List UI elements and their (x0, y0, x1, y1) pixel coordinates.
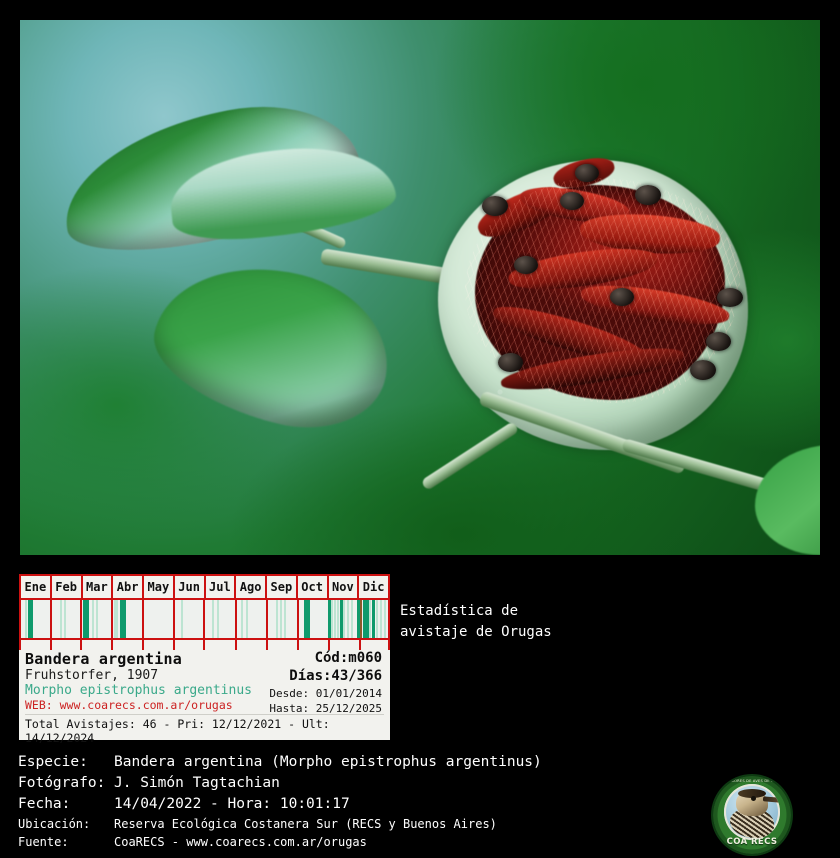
month-separator (19, 600, 21, 638)
sighting-tick-day-261 (284, 600, 286, 638)
statistics-caption: Estadística de avistaje de Orugas (400, 601, 700, 643)
species-days-count: Días:43/366 (289, 668, 382, 684)
caterpillar-head (717, 288, 743, 307)
month-separator (388, 600, 390, 638)
month-header-ene: Ene (19, 576, 52, 598)
logo-inner-disc (724, 784, 780, 840)
caterpillar-head (635, 185, 661, 205)
month-header-feb: Feb (52, 576, 83, 598)
range-end-date: Hasta: 25/12/2025 (269, 702, 382, 715)
metadata-row: Fecha:14/04/2022 - Hora: 10:01:17 (18, 794, 718, 815)
caterpillar-head (514, 256, 538, 274)
metadata-row: Especie:Bandera argentina (Morpho epistr… (18, 752, 718, 773)
month-header-sep: Sep (267, 576, 298, 598)
month-header-nov: Nov (329, 576, 360, 598)
month-header-jul: Jul (206, 576, 237, 598)
sighting-tick-day-356 (380, 600, 382, 638)
sighting-tick-day-195 (217, 600, 219, 638)
sighting-tick-day-284 (307, 600, 310, 638)
month-header-may: May (144, 576, 175, 598)
logo-arc-text: OBSERVADORES DE AVES DE LA RESERVA ECOLO… (713, 779, 791, 783)
month-header-ago: Ago (236, 576, 267, 598)
month-header-oct: Oct (298, 576, 329, 598)
sighting-tick-day-324 (347, 600, 349, 638)
sighting-tick-day-336 (360, 600, 362, 638)
sighting-tick-day-360 (384, 600, 386, 638)
species-code: Cód:m060 (315, 650, 382, 666)
sighting-tick-day-66 (86, 600, 89, 638)
month-separator (142, 600, 144, 638)
sighting-tick-day-257 (280, 600, 282, 638)
month-header-mar: Mar (83, 576, 114, 598)
sighting-tick-day-190 (212, 600, 214, 638)
sighting-tick-day-76 (96, 600, 98, 638)
sighting-tick-day-320 (343, 600, 345, 638)
sighting-tick-day-103 (123, 600, 126, 638)
metadata-row: Fuente:CoaRECS - www.coarecs.com.ar/orug… (18, 833, 718, 851)
metadata-row: Ubicación:Reserva Ecológica Costanera Su… (18, 815, 718, 833)
statistics-caption-line1: Estadística de (400, 601, 700, 622)
sighting-tick-day-345 (369, 600, 371, 638)
month-header-dic: Dic (359, 576, 390, 598)
caterpillar-head (560, 192, 584, 210)
metadata-value: Bandera argentina (Morpho epistrophus ar… (114, 752, 718, 773)
sighting-tick-day-224 (246, 600, 248, 638)
sighting-tick-day-254 (276, 600, 278, 638)
sighting-tick-day-44 (64, 600, 66, 638)
month-separator (235, 600, 237, 638)
month-separator (203, 600, 205, 638)
sighting-tick-day-328 (351, 600, 353, 638)
caterpillar-head (498, 353, 523, 372)
sighting-tick-day-314 (337, 600, 339, 638)
month-separator (80, 600, 82, 638)
month-calendar: EneFebMarAbrMayJunJulAgoSepOctNovDic (19, 574, 390, 648)
metadata-value: 14/04/2022 - Hora: 10:01:17 (114, 794, 718, 815)
specimen-photo (20, 20, 820, 555)
month-header-row: EneFebMarAbrMayJunJulAgoSepOctNovDic (19, 574, 390, 600)
sighting-tick-day-160 (181, 600, 183, 638)
caterpillar-head (690, 360, 716, 380)
sighting-tick-day-219 (241, 600, 243, 638)
sighting-tick-band (19, 600, 390, 640)
sighting-statistics-panel: EneFebMarAbrMayJunJulAgoSepOctNovDic Ban… (19, 574, 390, 740)
month-separator (111, 600, 113, 638)
sighting-tick-day-96 (116, 600, 118, 638)
caterpillar-head (482, 196, 508, 216)
statistics-caption-line2: avistaje de Orugas (400, 622, 700, 643)
photo-metadata: Especie:Bandera argentina (Morpho epistr… (18, 752, 718, 851)
metadata-label: Fecha: (18, 794, 114, 815)
metadata-label: Fuente: (18, 833, 114, 851)
sighting-tick-day-308 (331, 600, 333, 638)
sighting-tick-day-72 (92, 600, 94, 638)
sighting-tick-day-348 (372, 600, 375, 638)
metadata-value: CoaRECS - www.coarecs.com.ar/orugas (114, 833, 718, 851)
metadata-row: Fotógrafo:J. Simón Tagtachian (18, 773, 718, 794)
caterpillar-head (575, 164, 599, 182)
month-separator (173, 600, 175, 638)
coa-recs-logo[interactable]: OBSERVADORES DE AVES DE LA RESERVA ECOLO… (713, 776, 791, 854)
metadata-value: Reserva Ecológica Costanera Sur (RECS y … (114, 815, 718, 833)
month-header-jun: Jun (175, 576, 206, 598)
range-start-date: Desde: 01/01/2014 (269, 687, 382, 700)
sighting-tick-day-311 (334, 600, 336, 638)
metadata-label: Ubicación: (18, 815, 114, 833)
caterpillar-head (706, 332, 731, 351)
bird-eye-icon (751, 796, 756, 801)
month-header-abr: Abr (113, 576, 144, 598)
species-info-block: Bandera argentina Fruhstorfer, 1907 Morp… (19, 648, 390, 738)
month-separator (297, 600, 299, 638)
metadata-value: J. Simón Tagtachian (114, 773, 718, 794)
caterpillar-head (610, 288, 634, 306)
month-separator (266, 600, 268, 638)
metadata-label: Fotógrafo: (18, 773, 114, 794)
logo-label: COA RECS (713, 837, 791, 847)
sighting-tick-day-11 (30, 600, 33, 638)
species-totals-line: Total Avistajes: 46 - Pri: 12/12/2021 - … (25, 714, 384, 745)
sighting-tick-day-352 (376, 600, 378, 638)
sighting-tick-day-6 (25, 600, 27, 638)
metadata-label: Especie: (18, 752, 114, 773)
month-separator (50, 600, 52, 638)
sighting-tick-day-40 (60, 600, 62, 638)
